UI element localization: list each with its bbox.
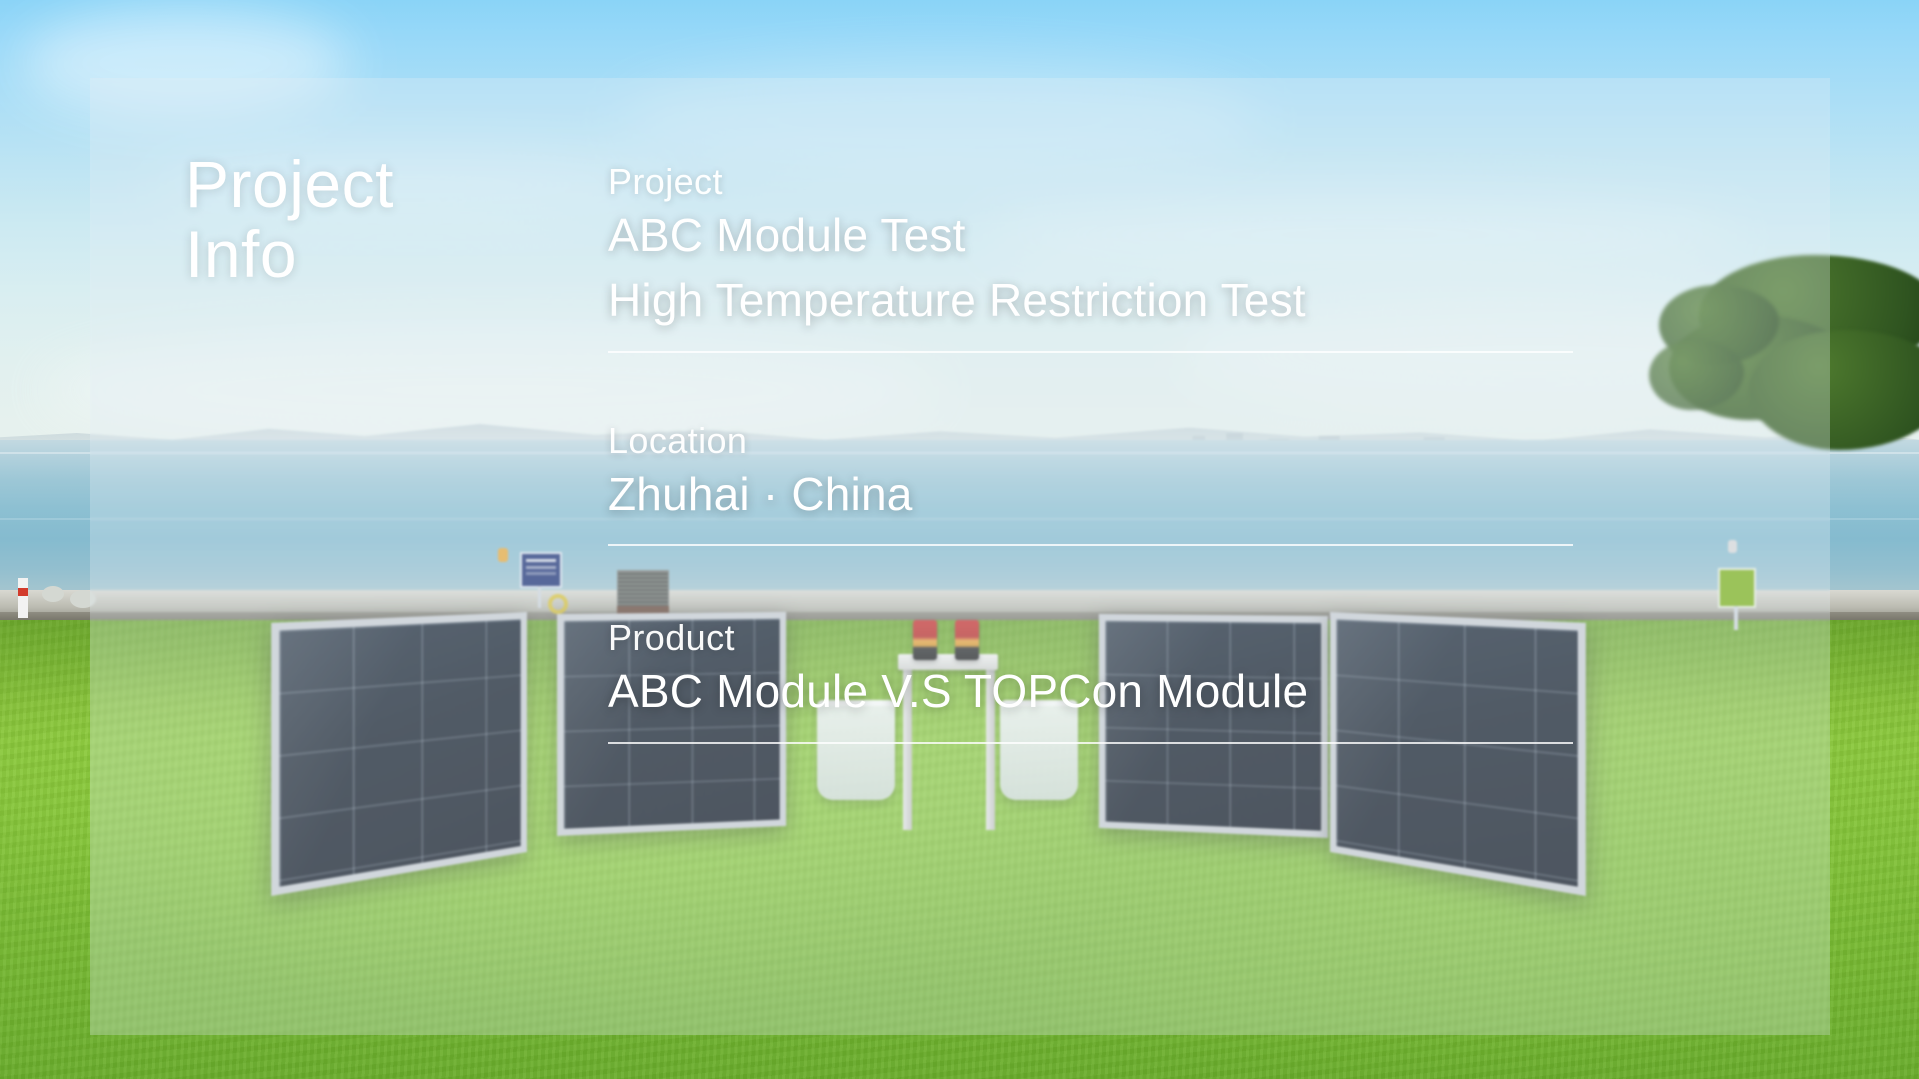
field-product: Product ABC Module V.S TOPCon Module xyxy=(608,616,1608,743)
field-divider xyxy=(608,351,1573,353)
page-title-line-1: Project xyxy=(185,150,515,220)
page-title-line-2: Info xyxy=(185,220,515,290)
field-divider xyxy=(608,742,1573,744)
field-project-value-2: High Temperature Restriction Test xyxy=(608,269,1608,332)
field-location-value: Zhuhai · China xyxy=(608,463,1608,526)
field-list: Project ABC Module Test High Temperature… xyxy=(608,160,1608,744)
info-content: Project Info Project ABC Module Test Hig… xyxy=(0,0,1919,1079)
field-project: Project ABC Module Test High Temperature… xyxy=(608,160,1608,353)
slide-stage: Project Info Project ABC Module Test Hig… xyxy=(0,0,1919,1079)
field-location: Location Zhuhai · China xyxy=(608,419,1608,546)
field-product-label: Product xyxy=(608,616,1608,660)
field-product-value: ABC Module V.S TOPCon Module xyxy=(608,660,1608,723)
field-project-value: ABC Module Test xyxy=(608,204,1608,267)
field-divider xyxy=(608,544,1573,546)
field-project-label: Project xyxy=(608,160,1608,204)
page-title: Project Info xyxy=(185,150,515,290)
field-location-label: Location xyxy=(608,419,1608,463)
